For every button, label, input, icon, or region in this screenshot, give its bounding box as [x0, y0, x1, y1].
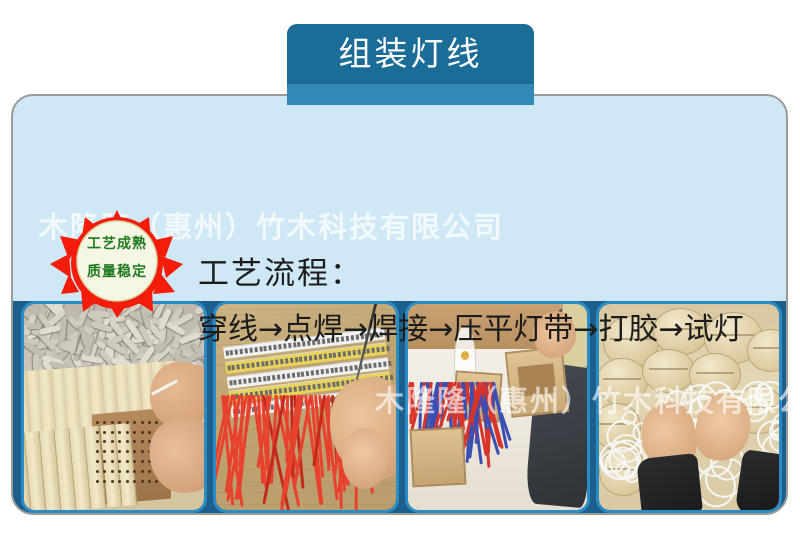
strip-edge-right — [782, 301, 788, 513]
process-flow-text: 穿线→点焊→焊接→压平灯带→打胶→试灯 — [198, 304, 744, 348]
strip-edge-left — [13, 301, 21, 513]
title-banner-lower-band — [287, 84, 534, 105]
badge-line-1: 工艺成熟 — [49, 230, 185, 258]
badge-line-2: 质量稳定 — [49, 258, 185, 286]
content-panel: 木隆隆（惠州）竹木科技有限公司 — [11, 94, 788, 515]
slide-canvas: 木隆隆（惠州）竹木科技有限公司 — [0, 0, 800, 538]
process-heading: 工艺流程： — [198, 248, 363, 293]
page-title: 组装灯线 — [287, 32, 534, 76]
quality-badge: 工艺成熟 质量稳定 — [49, 208, 185, 318]
title-banner: 组装灯线 — [287, 24, 534, 105]
process-photo-threading — [21, 301, 207, 513]
